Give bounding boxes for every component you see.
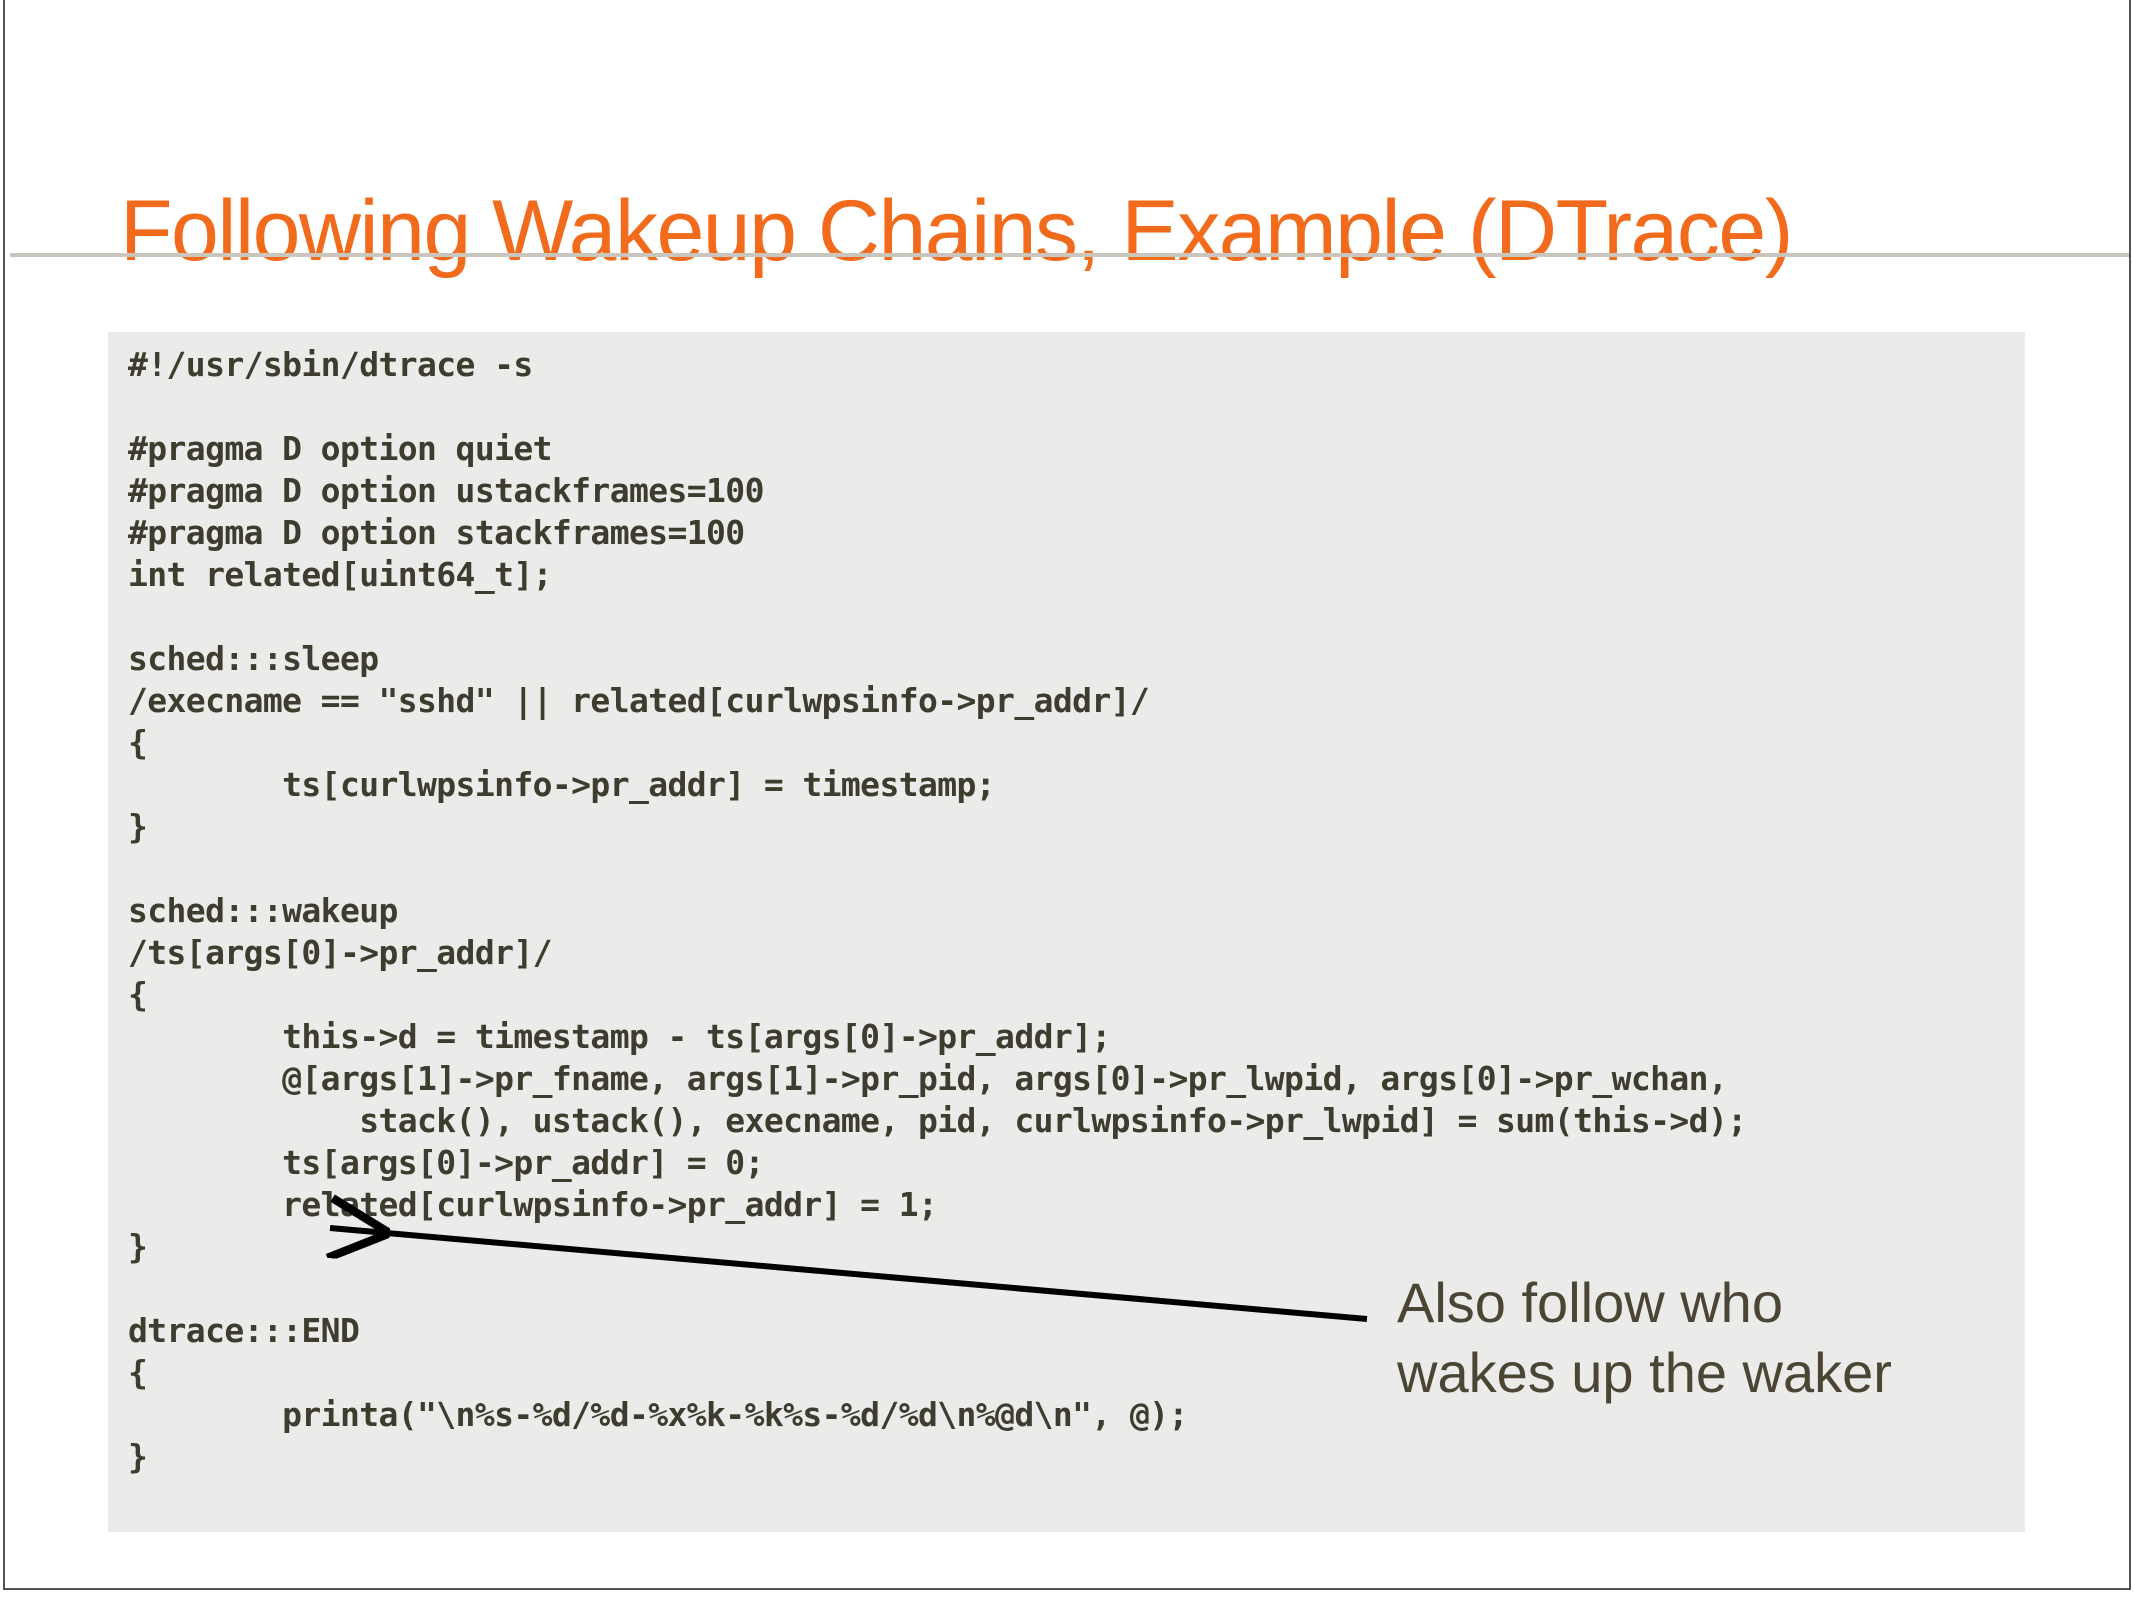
annotation-text: Also follow who wakes up the waker [1397, 1268, 2037, 1408]
page-title: Following Wakeup Chains, Example (DTrace… [120, 176, 2050, 296]
annotation-line-1: Also follow who [1397, 1268, 2037, 1338]
title-divider [10, 253, 2130, 257]
presentation-slide: Following Wakeup Chains, Example (DTrace… [3, 0, 2131, 1590]
annotation-line-2: wakes up the waker [1397, 1338, 2037, 1408]
